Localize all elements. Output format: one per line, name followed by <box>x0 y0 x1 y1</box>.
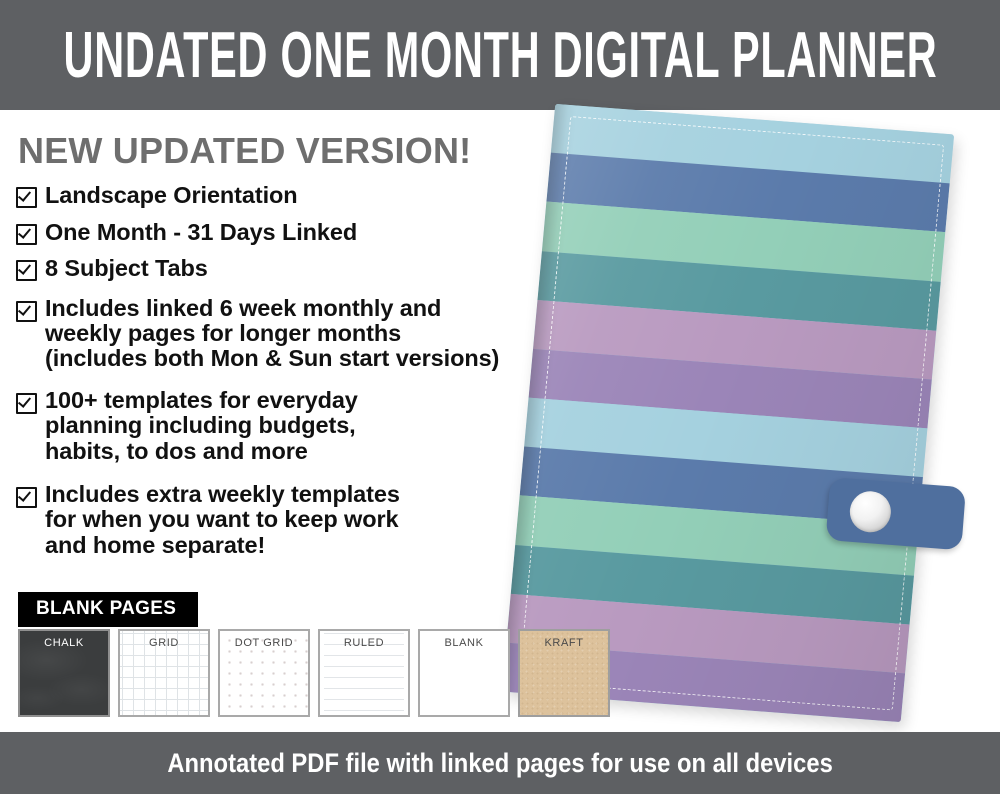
list-item: One Month - 31 Days Linked <box>16 219 541 246</box>
checked-box-icon <box>16 260 37 281</box>
swatch-label: KRAFT <box>520 637 608 649</box>
feature-list: Landscape Orientation One Month - 31 Day… <box>16 182 541 568</box>
list-item: Includes extra weekly templates for when… <box>16 482 541 558</box>
checked-box-icon <box>16 393 37 414</box>
swatch-ruled[interactable]: RULED <box>318 629 410 717</box>
checked-box-icon <box>16 187 37 208</box>
swatch-label: RULED <box>320 637 408 649</box>
blank-pages-badge: BLANK PAGES <box>18 592 198 627</box>
snap-button-icon <box>848 490 892 534</box>
checked-box-icon <box>16 487 37 508</box>
feature-label: 100+ templates for everyday planning inc… <box>45 388 358 464</box>
swatch-label: BLANK <box>420 637 508 649</box>
feature-label: Landscape Orientation <box>45 182 298 209</box>
checked-box-icon <box>16 224 37 245</box>
list-item: Includes linked 6 week monthly and weekl… <box>16 296 541 372</box>
list-item: 100+ templates for everyday planning inc… <box>16 388 541 464</box>
swatch-grid[interactable]: GRID <box>118 629 210 717</box>
badge-label: BLANK PAGES <box>36 598 176 619</box>
footer-bar: Annotated PDF file with linked pages for… <box>0 732 1000 794</box>
feature-label: One Month - 31 Days Linked <box>45 219 357 246</box>
footer-label: Annotated PDF file with linked pages for… <box>167 750 832 777</box>
swatch-chalk[interactable]: CHALK <box>18 629 110 717</box>
swatch-kraft[interactable]: KRAFT <box>518 629 610 717</box>
header-bar: UNDATED ONE MONTH DIGITAL PLANNER <box>0 0 1000 110</box>
feature-label: Includes extra weekly templates for when… <box>45 482 400 558</box>
subheading: NEW UPDATED VERSION! <box>18 130 471 172</box>
swatch-label: GRID <box>120 637 208 649</box>
features-panel: NEW UPDATED VERSION! Landscape Orientati… <box>0 110 545 732</box>
swatch-dot-grid[interactable]: DOT GRID <box>218 629 310 717</box>
swatch-label: DOT GRID <box>220 637 308 649</box>
list-item: Landscape Orientation <box>16 182 541 209</box>
page-title: UNDATED ONE MONTH DIGITAL PLANNER <box>63 23 937 88</box>
feature-label: 8 Subject Tabs <box>45 255 208 282</box>
list-item: 8 Subject Tabs <box>16 255 541 282</box>
checked-box-icon <box>16 301 37 322</box>
planner-clasp <box>826 477 966 550</box>
swatch-label: CHALK <box>20 637 108 649</box>
swatch-blank[interactable]: BLANK <box>418 629 510 717</box>
paper-swatch-row: CHALK GRID DOT GRID RULED BLANK KRAFT <box>18 629 618 717</box>
feature-label: Includes linked 6 week monthly and weekl… <box>45 296 499 372</box>
